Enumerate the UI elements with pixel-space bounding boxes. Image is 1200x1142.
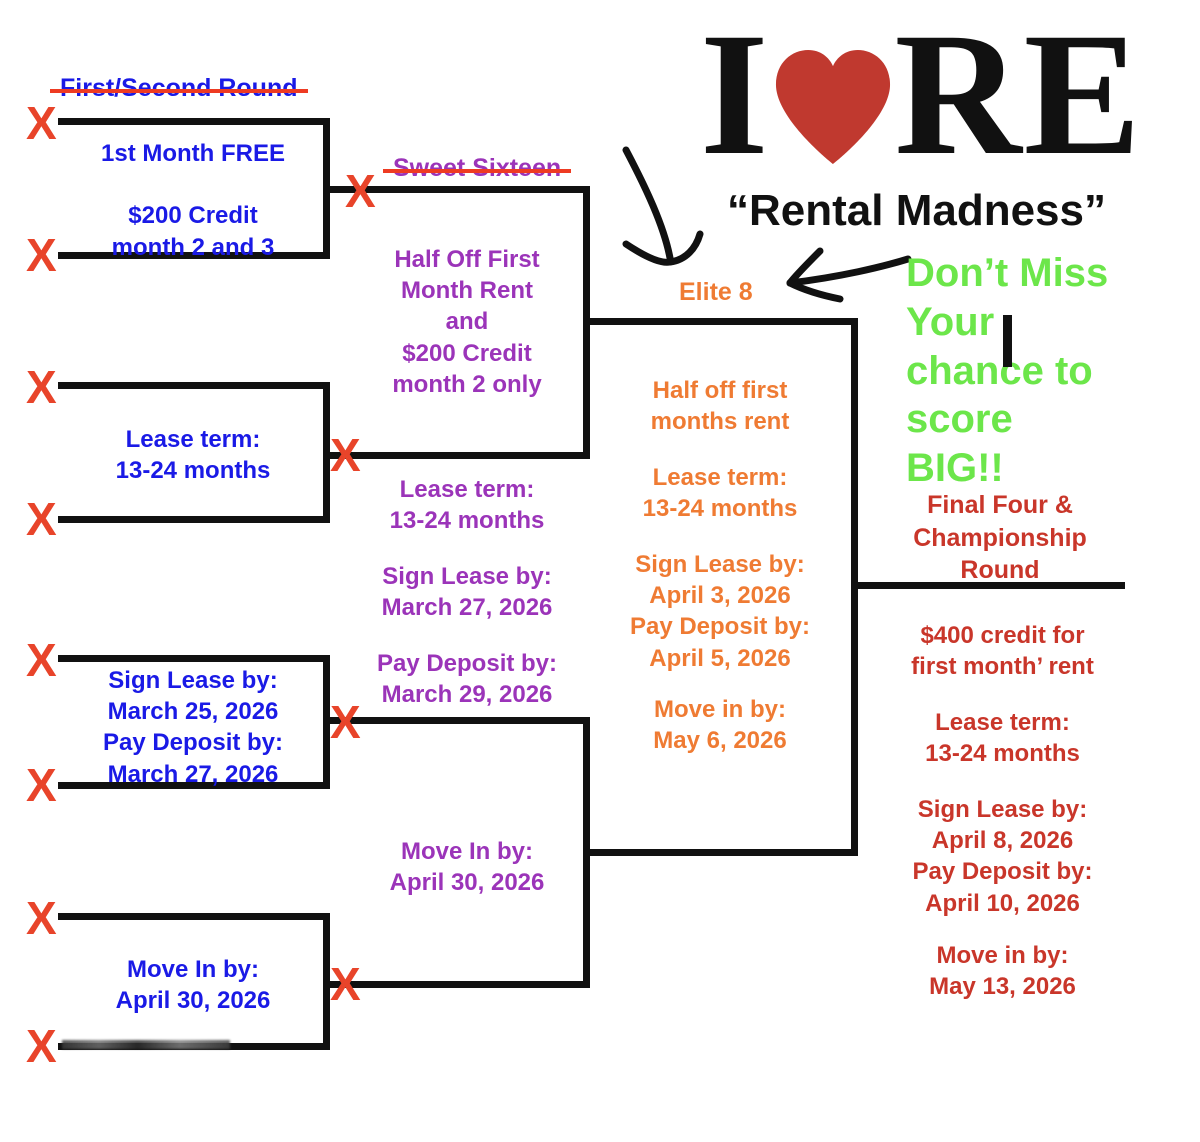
offer-round4-move-in: Move in by: May 13, 2026 bbox=[900, 940, 1105, 1002]
offer-round2-pay-deposit: Pay Deposit by: March 29, 2026 bbox=[352, 648, 582, 710]
bracket-line bbox=[58, 655, 330, 662]
x-mark: X bbox=[330, 432, 361, 478]
curved-down-arrow-icon bbox=[612, 142, 732, 287]
x-mark: X bbox=[26, 762, 57, 808]
bracket-line bbox=[590, 318, 858, 325]
round-label-sweet-sixteen: Sweet Sixteen bbox=[393, 154, 561, 183]
bracket-line bbox=[58, 913, 330, 920]
offer-round3-move-in: Move in by: May 6, 2026 bbox=[608, 694, 832, 756]
x-mark: X bbox=[26, 232, 57, 278]
offer-round4-lease: Lease term: 13-24 months bbox=[900, 707, 1105, 769]
offer-round1-box2: Lease term: 13-24 months bbox=[58, 424, 328, 486]
strikethrough-line bbox=[383, 169, 571, 173]
offer-round2-box1: Half Off First Month Rent and $200 Credi… bbox=[352, 244, 582, 400]
offer-round3-lease: Lease term: 13-24 months bbox=[608, 462, 832, 524]
logo-letters-re: RE bbox=[895, 0, 1144, 192]
bracket-line bbox=[583, 186, 590, 459]
smudge-artifact bbox=[62, 1040, 230, 1049]
x-mark: X bbox=[26, 364, 57, 410]
x-mark: X bbox=[26, 637, 57, 683]
offer-round4-credit: $400 credit for first month’ rent bbox=[900, 620, 1105, 682]
offer-round2-sign-lease: Sign Lease by: March 27, 2026 bbox=[352, 561, 582, 623]
round-label-first-second: First/Second Round bbox=[60, 74, 298, 103]
bracket-line bbox=[58, 516, 330, 523]
offer-round1-box4: Move In by: April 30, 2026 bbox=[58, 954, 328, 1016]
bracket-line bbox=[58, 382, 330, 389]
x-mark: X bbox=[26, 895, 57, 941]
offer-round3-rent: Half off first months rent bbox=[608, 375, 832, 437]
promo-text: Don’t Miss Your chance to score BIG!! bbox=[906, 249, 1156, 493]
x-mark: X bbox=[330, 961, 361, 1007]
bracket-line bbox=[58, 118, 330, 125]
brand-logo: I RE bbox=[700, 14, 1143, 176]
bracket-line bbox=[590, 849, 858, 856]
left-pointing-arrow-icon bbox=[778, 245, 913, 310]
round-label-final-four: Final Four & Championship Round bbox=[905, 489, 1095, 587]
x-mark: X bbox=[26, 1023, 57, 1069]
strikethrough-line bbox=[50, 89, 308, 93]
rental-madness-bracket-poster: I RE “Rental Madness” Don’t Miss Your ch… bbox=[0, 0, 1200, 1142]
x-mark: X bbox=[330, 699, 361, 745]
tagline: “Rental Madness” bbox=[727, 186, 1106, 236]
bracket-line bbox=[583, 717, 590, 988]
x-mark: X bbox=[26, 496, 57, 542]
offer-round1-box3: Sign Lease by: March 25, 2026 Pay Deposi… bbox=[58, 665, 328, 790]
bracket-line bbox=[330, 981, 590, 988]
offer-round3-dates: Sign Lease by: April 3, 2026 Pay Deposit… bbox=[608, 549, 832, 674]
bracket-line bbox=[330, 717, 590, 724]
bracket-line bbox=[330, 452, 590, 459]
offer-round4-dates: Sign Lease by: April 8, 2026 Pay Deposit… bbox=[900, 794, 1105, 919]
offer-round2-move-in: Move In by: April 30, 2026 bbox=[352, 836, 582, 898]
text-cursor-artifact bbox=[1003, 315, 1012, 367]
x-mark: X bbox=[26, 100, 57, 146]
bracket-line bbox=[852, 582, 1125, 589]
heart-icon bbox=[771, 28, 895, 148]
offer-round1-box1: 1st Month FREE $200 Credit month 2 and 3 bbox=[58, 138, 328, 263]
offer-round2-lease: Lease term: 13-24 months bbox=[352, 474, 582, 536]
x-mark: X bbox=[345, 168, 376, 214]
round-label-elite-8: Elite 8 bbox=[679, 278, 753, 307]
